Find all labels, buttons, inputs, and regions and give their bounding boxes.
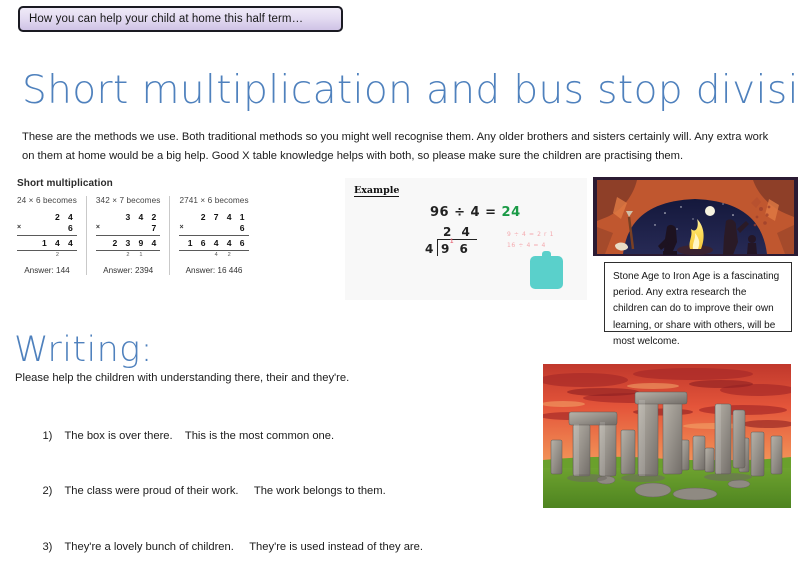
multiplication-example: 24 × 6 becomes 2 4 × 6 1 4 4	[17, 196, 86, 275]
carry-digit	[197, 252, 210, 260]
carry-digit: 2	[121, 252, 134, 260]
list-item: 1)The box is over there. This is the mos…	[30, 408, 423, 464]
short-multiplication-heading: Short multiplication	[17, 178, 347, 189]
example-caption: 342 × 7 becomes	[96, 196, 161, 205]
digit: 2	[108, 238, 121, 248]
list-item-number: 1)	[42, 427, 64, 446]
stonehenge-illustration	[543, 364, 791, 508]
digit: 6	[236, 238, 249, 248]
digit: 3	[121, 238, 134, 248]
sum-rule	[179, 235, 248, 236]
digit: 6	[197, 238, 210, 248]
writing-examples-list: 1)The box is over there. This is the mos…	[30, 408, 423, 575]
carry-digit: 2	[223, 252, 236, 260]
digit: 4	[210, 238, 223, 248]
bus-stop-division-example-box: Example 96 ÷ 4 = 24 2 4 4 9 6 1 9 ÷ 4 = …	[345, 178, 587, 300]
example-label: Example	[354, 185, 399, 197]
digit: 2	[147, 212, 160, 222]
sum-rule	[96, 250, 161, 251]
sum-rule	[179, 250, 248, 251]
list-item-text: The box is over there. This is the most …	[64, 430, 334, 442]
digit: 6	[236, 223, 249, 233]
stonehenge-image	[543, 364, 791, 508]
division-note-line: 9 ÷ 4 = 2 r 1	[507, 230, 554, 241]
digit: 4	[64, 238, 77, 248]
example-answer: Answer: 16 446	[179, 266, 248, 275]
bus-stop-quotient: 2 4	[443, 225, 473, 239]
list-item: 3)They're a lovely bunch of children. Th…	[30, 520, 423, 575]
division-statement-result: 24	[502, 205, 521, 220]
digit: 4	[223, 238, 236, 248]
digit: 4	[223, 212, 236, 222]
list-item-number: 2)	[42, 482, 64, 501]
column-sum: 2 7 4 1 × 6 1 6 4 4 6	[179, 211, 248, 260]
sum-carry-row: 2 1	[96, 252, 161, 260]
carry-digit: 4	[210, 252, 223, 260]
bus-stop-carry-mark: 1	[450, 239, 453, 245]
digit: 4	[134, 212, 147, 222]
digit: 4	[51, 238, 64, 248]
division-statement: 96 ÷ 4 = 24	[430, 205, 521, 220]
division-note-line: 16 ÷ 4 = 4	[507, 241, 554, 252]
digit: 4	[64, 212, 77, 222]
sum-top-row: 3 4 2	[96, 211, 161, 222]
multiplication-examples-row: 24 × 6 becomes 2 4 × 6 1 4 4	[17, 196, 347, 276]
sum-rule	[17, 235, 77, 236]
carry-digit	[236, 252, 249, 260]
sum-rule	[17, 250, 77, 251]
sum-carry-row: 2	[17, 252, 77, 260]
stone-age-note-box: Stone Age to Iron Age is a fascinating p…	[604, 262, 792, 332]
digit: 7	[210, 212, 223, 222]
writing-section-title: Writing:	[14, 330, 153, 370]
digit: 1	[184, 238, 197, 248]
stone-age-note-text: Stone Age to Iron Age is a fascinating p…	[613, 269, 783, 350]
example-answer: Answer: 2394	[96, 266, 161, 275]
short-multiplication-panel: Short multiplication 24 × 6 becomes 2 4 …	[17, 178, 347, 276]
sum-operand-row: × 6	[179, 222, 248, 233]
cave-scene-illustration	[593, 177, 798, 256]
list-item-text: They're a lovely bunch of children. They…	[64, 541, 423, 553]
intro-paragraph: These are the methods we use. Both tradi…	[22, 128, 778, 167]
cave-scene-image	[593, 177, 798, 256]
sum-rule	[96, 235, 161, 236]
sum-operand-row: × 6	[17, 222, 77, 233]
multiply-operator: ×	[17, 224, 24, 231]
teal-speech-bubble-icon	[530, 256, 563, 289]
digit: 2	[51, 212, 64, 222]
division-annotation-notes: 9 ÷ 4 = 2 r 1 16 ÷ 4 = 4	[507, 230, 554, 251]
page-title: Short multiplication and bus stop divisi…	[22, 68, 800, 113]
header-banner: How you can help your child at home this…	[18, 6, 343, 32]
bus-stop-dividend: 9 6	[441, 242, 471, 256]
division-statement-left: 96 ÷ 4 =	[430, 205, 497, 220]
example-caption: 2741 × 6 becomes	[179, 196, 248, 205]
digit: 4	[147, 238, 160, 248]
digit: 2	[197, 212, 210, 222]
sum-carry-row: 4 2	[179, 252, 248, 260]
sum-top-row: 2 7 4 1	[179, 211, 248, 222]
example-caption: 24 × 6 becomes	[17, 196, 77, 205]
digit: 3	[121, 212, 134, 222]
multiply-operator: ×	[96, 224, 103, 231]
sum-result-row: 2 3 9 4	[96, 237, 161, 248]
multiplication-example: 342 × 7 becomes 3 4 2 × 7 2 3 9	[86, 196, 170, 275]
column-sum: 2 4 × 6 1 4 4 2	[17, 211, 77, 260]
list-item-text: The class were proud of their work. The …	[64, 485, 385, 497]
sum-result-row: 1 6 4 4 6	[179, 237, 248, 248]
sum-top-row: 2 4	[17, 211, 77, 222]
carry-digit	[38, 252, 51, 260]
digit: 1	[236, 212, 249, 222]
carry-digit	[108, 252, 121, 260]
multiplication-example: 2741 × 6 becomes 2 7 4 1 × 6 1	[169, 196, 257, 275]
example-answer: Answer: 144	[17, 266, 77, 275]
bus-stop-divisor: 4	[425, 242, 433, 256]
sum-operand-row: × 7	[96, 222, 161, 233]
carry-digit	[64, 252, 77, 260]
header-banner-label: How you can help your child at home this…	[29, 13, 303, 25]
carry-digit: 2	[51, 252, 64, 260]
multiply-operator: ×	[179, 224, 186, 231]
digit: 6	[64, 223, 77, 233]
list-item: 2)The class were proud of their work. Th…	[30, 464, 423, 520]
carry-digit	[147, 252, 160, 260]
carry-digit	[184, 252, 197, 260]
sum-result-row: 1 4 4	[17, 237, 77, 248]
writing-intro-text: Please help the children with understand…	[15, 372, 349, 384]
carry-digit: 1	[134, 252, 147, 260]
digit: 7	[147, 223, 160, 233]
column-sum: 3 4 2 × 7 2 3 9 4	[96, 211, 161, 260]
digit: 9	[134, 238, 147, 248]
list-item-number: 3)	[42, 538, 64, 557]
digit: 1	[38, 238, 51, 248]
